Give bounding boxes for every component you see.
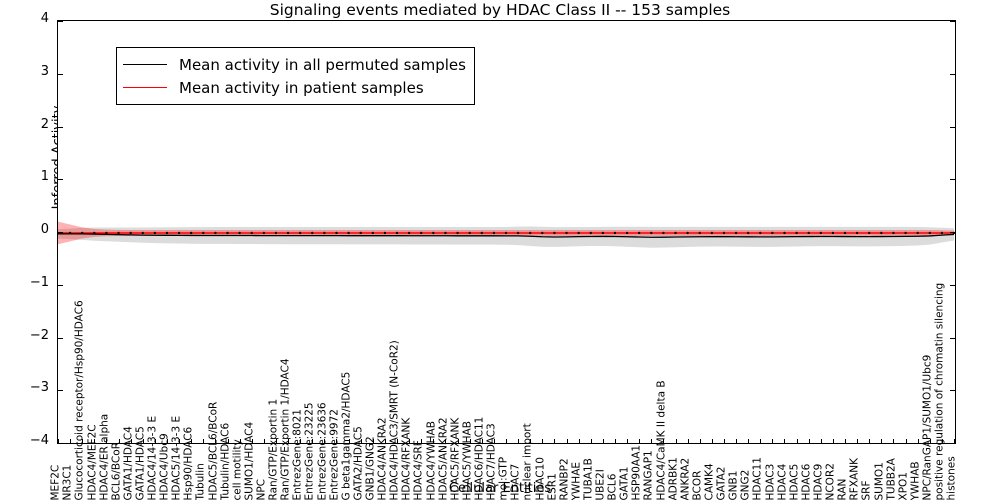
x-tick-label: HDAC5 (789, 463, 800, 500)
x-tick-mark (603, 439, 604, 443)
x-tick-mark (70, 439, 71, 443)
x-tick-label: TUBB2A (886, 458, 897, 500)
y-tick-label: 2 (0, 117, 49, 132)
x-tick-label: RFXANK (850, 458, 861, 500)
y-tick-mark (58, 127, 63, 128)
y-tick-label: −2 (0, 328, 49, 343)
x-tick-mark (760, 439, 761, 443)
x-tick-label: Ran/GTP/Exportin 1 (269, 398, 280, 500)
x-tick-label: GATA1 (620, 466, 631, 500)
y-tick-mark (58, 179, 63, 180)
y-tick-label: −1 (0, 275, 49, 290)
x-tick-label: GATA1/HDAC4 (123, 426, 134, 500)
x-tick-label: HDAC9 (814, 463, 825, 500)
x-tick-label: ADRBK1 (668, 457, 679, 500)
x-tick-mark (857, 439, 858, 443)
x-tick-label: NPC (257, 478, 268, 500)
legend-swatch-permuted (123, 64, 167, 65)
x-tick-mark (264, 439, 265, 443)
figure: Signaling events mediated by HDAC Class … (0, 0, 1000, 500)
x-tick-mark (567, 439, 568, 443)
x-tick-label: HDAC7 (511, 463, 522, 500)
x-tick-label: HDAC5/BCL6/BCoR (208, 401, 219, 500)
x-tick-label: RANGAP1 (644, 450, 655, 500)
y-tick-label: −3 (0, 380, 49, 395)
y-tick-mark (58, 338, 63, 339)
x-tick-mark (58, 439, 59, 443)
x-tick-label: HDAC4/ER alpha (99, 413, 110, 500)
y-tick-mark (950, 127, 955, 128)
x-tick-mark (700, 439, 701, 443)
x-tick-label: Hsp90/HDAC6 (184, 426, 195, 500)
x-tick-label: CAMK4 (705, 463, 716, 500)
x-tick-mark (676, 439, 677, 443)
x-tick-mark (518, 439, 519, 443)
x-tick-mark (591, 439, 592, 443)
x-tick-label: HDAC4/Ubc9 (160, 433, 171, 500)
x-tick-mark (845, 439, 846, 443)
x-tick-label: EntrezGene:9972 (329, 409, 340, 500)
y-tick-label: 4 (0, 11, 49, 26)
x-tick-label: histones (947, 456, 958, 500)
x-tick-mark (554, 439, 555, 443)
x-tick-mark (821, 439, 822, 443)
x-tick-label: BCL6 (608, 473, 619, 500)
x-tick-label: HDAC5/ANKRA2 (438, 417, 449, 500)
x-tick-mark (893, 439, 894, 443)
legend-item: Mean activity in patient samples (123, 76, 466, 99)
x-tick-mark (651, 439, 652, 443)
y-tick-mark (58, 443, 63, 444)
x-tick-label: EntrezGene:8021 (293, 409, 304, 500)
x-tick-label: positive regulation of chromatin silenci… (935, 282, 946, 500)
y-tick-mark (950, 232, 955, 233)
x-tick-label: HDAC4/ANKRA2 (378, 417, 389, 500)
x-tick-label: HDAC5/14-3-3 E (172, 415, 183, 500)
x-tick-label: Tubulin (196, 463, 207, 500)
x-tick-label: BCL6/BCoR (111, 442, 122, 500)
y-tick-mark (950, 338, 955, 339)
x-tick-label: EntrezGene:23636 (317, 402, 328, 500)
legend-item: Mean activity in all permuted samples (123, 53, 466, 76)
x-tick-label: GNB1/GNG2 (366, 436, 377, 500)
x-tick-mark (203, 439, 204, 443)
x-tick-label: ANKRA2 (680, 457, 691, 500)
y-tick-mark (58, 390, 63, 391)
x-tick-label: Glucocorticoid receptor/Hsp90/HDAC6 (75, 300, 86, 500)
x-tick-label: MEF2C (51, 464, 62, 500)
legend-swatch-patient (123, 87, 167, 88)
x-tick-mark (869, 439, 870, 443)
x-tick-label: cell motility (232, 439, 243, 500)
x-tick-label: ESR1 (547, 473, 558, 500)
x-tick-label: HDAC4 (777, 463, 788, 500)
y-tick-label: −4 (0, 433, 49, 448)
x-tick-mark (797, 439, 798, 443)
x-tick-label: RANBP2 (559, 458, 570, 500)
x-tick-label: YWHAB (910, 461, 921, 500)
x-tick-label: YWHAE (571, 461, 582, 500)
y-tick-mark (950, 443, 955, 444)
x-tick-label: GATA2 (717, 466, 728, 500)
x-tick-mark (712, 439, 713, 443)
x-tick-mark (954, 439, 955, 443)
y-tick-label: 0 (0, 222, 49, 237)
x-tick-mark (748, 439, 749, 443)
x-tick-mark (784, 439, 785, 443)
x-tick-label: SRF (862, 480, 873, 500)
series-group (58, 222, 955, 248)
x-tick-label: RAN (838, 478, 849, 500)
chart-title: Signaling events mediated by HDAC Class … (0, 1, 1000, 19)
x-tick-label: HDAC4/HDAC3/SMRT (N-CoR2) (390, 340, 401, 500)
x-tick-label: SUMO1 (874, 462, 885, 500)
y-tick-label: 1 (0, 169, 49, 184)
y-tick-mark (58, 21, 63, 22)
x-tick-mark (736, 439, 737, 443)
plot-area: Mean activity in all permuted samples Me… (57, 20, 956, 444)
x-tick-label: HDAC5/YWHAB (462, 421, 473, 500)
x-tick-mark (772, 439, 773, 443)
x-tick-label: SUMO1/HDAC4 (244, 421, 255, 500)
x-tick-label: HSP90AA1 (632, 444, 643, 500)
x-tick-label: mol:GTP (499, 456, 510, 500)
y-tick-mark (58, 74, 63, 75)
x-tick-label: HDAC5/RFXANK (450, 417, 461, 500)
x-tick-mark (506, 439, 507, 443)
x-tick-mark (688, 439, 689, 443)
y-tick-mark (950, 390, 955, 391)
y-tick-mark (950, 179, 955, 180)
x-tick-label: NR3C1 (63, 464, 74, 500)
x-tick-label: UBE2I (596, 469, 607, 500)
x-tick-mark (906, 439, 907, 443)
x-tick-mark (542, 439, 543, 443)
y-tick-mark (58, 285, 63, 286)
legend-label-patient: Mean activity in patient samples (179, 79, 424, 97)
x-tick-label: G beta1gamma2/HDAC5 (341, 371, 352, 500)
x-tick-label: GNG2 (741, 469, 752, 500)
x-tick-label: HDAC7/HDAC3 (487, 423, 498, 500)
x-tick-mark (833, 439, 834, 443)
x-tick-label: HDAC4/14-3-3 E (148, 415, 159, 500)
x-tick-label: HDAC4/YWHAB (426, 421, 437, 500)
x-tick-label: HDAC6 (801, 463, 812, 500)
x-tick-label: NPC/RanGAP1/SUMO1/Ubc9 (922, 354, 933, 500)
x-tick-mark (627, 439, 628, 443)
legend-label-permuted: Mean activity in all permuted samples (179, 56, 466, 74)
y-tick-mark (950, 21, 955, 22)
x-tick-label: HDAC4/MEF2C (87, 424, 98, 500)
x-tick-mark (809, 439, 810, 443)
y-tick-mark (950, 285, 955, 286)
x-tick-label: NCOR2 (826, 463, 837, 500)
x-tick-label: HDAC4/SRF (414, 440, 425, 500)
y-tick-mark (950, 74, 955, 75)
x-tick-label: BCOR (692, 470, 703, 500)
x-tick-mark (639, 439, 640, 443)
x-tick-label: GATA2/HDAC5 (353, 426, 364, 500)
x-tick-mark (615, 439, 616, 443)
x-tick-label: HDAC6/HDAC11 (474, 416, 485, 500)
legend: Mean activity in all permuted samples Me… (116, 47, 475, 105)
x-tick-label: XPO1 (898, 472, 909, 500)
x-tick-label: nuclear import (523, 423, 534, 500)
x-tick-label: EntrezGene:23225 (305, 402, 316, 500)
x-tick-label: HDAC10 (535, 457, 546, 500)
x-tick-label: HDAC3 (765, 463, 776, 500)
x-tick-mark (579, 439, 580, 443)
x-tick-label: GATA1/HDAC5 (135, 426, 146, 500)
x-tick-label: TUBA1B (583, 458, 594, 500)
y-tick-mark (58, 232, 63, 233)
x-tick-label: Ran/GTP/Exportin 1/HDAC4 (281, 358, 292, 500)
x-tick-label: Tubulin/HDAC6 (220, 422, 231, 500)
y-tick-label: 3 (0, 64, 49, 79)
x-tick-mark (724, 439, 725, 443)
x-tick-label: HDAC4/CaMK II delta B (656, 380, 667, 500)
x-tick-mark (918, 439, 919, 443)
x-tick-label: HDAC4/RFXANK (402, 417, 413, 500)
x-tick-label: HDAC11 (753, 457, 764, 500)
x-tick-labels: MEF2CNR3C1Glucocorticoid receptor/Hsp90/… (57, 446, 956, 500)
x-tick-label: GNB1 (729, 470, 740, 500)
x-tick-mark (881, 439, 882, 443)
